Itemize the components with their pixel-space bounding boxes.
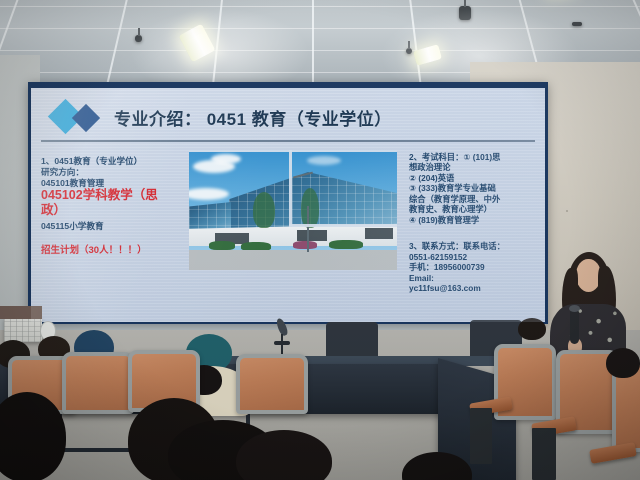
ceiling-speaker <box>135 35 142 42</box>
exam-line-5: 教育史、教育心理学） <box>409 204 545 214</box>
contact-phone: 0551-62159152 <box>409 252 545 262</box>
left-line-4: 045115小学教育 <box>41 221 206 232</box>
ceiling-light <box>178 24 215 63</box>
auditorium-seat[interactable] <box>236 354 308 414</box>
slide-right-column: 2、考试科目：① (101)思 想政治理论 ② (204)英语 ③ (333)教… <box>409 152 545 293</box>
exam-line-4: 综合（教育学原理、中外 <box>409 194 545 204</box>
exam-line-2: ② (204)英语 <box>409 173 545 183</box>
left-line-1: 1、0451教育（专业学位） <box>41 156 206 167</box>
diamond-logo-dark <box>76 108 96 128</box>
armrest-post <box>532 428 556 480</box>
led-screen[interactable]: 专业介绍： 0451 教育（专业学位） 1、0451教育（专业学位） 研究方向：… <box>31 88 545 322</box>
contact-heading: 3、联系方式：联系电话： <box>409 241 545 251</box>
lecture-hall-photo: 专业介绍： 0451 教育（专业学位） 1、0451教育（专业学位） 研究方向：… <box>0 0 640 480</box>
presentation-slide: 专业介绍： 0451 教育（专业学位） 1、0451教育（专业学位） 研究方向：… <box>31 88 545 322</box>
left-line-3: 045101教育管理 <box>41 178 206 189</box>
left-line-2: 研究方向： <box>41 167 206 178</box>
contact-email-label: Email: <box>409 273 545 283</box>
exam-line-6: ④ (819)教育管理学 <box>409 215 545 225</box>
exam-line-3: ③ (333)教育学专业基础 <box>409 183 545 193</box>
slide-title: 专业介绍： 0451 教育（专业学位） <box>114 105 392 130</box>
left-highlight-2: 政） <box>41 203 206 218</box>
ceiling-light <box>413 44 442 66</box>
campus-building-photo <box>189 150 397 270</box>
contact-email-value: yc11fsu@163.com <box>409 283 545 293</box>
exam-line-1: 想政治理论 <box>409 162 545 172</box>
enrollment-plan-note: 招生计划（30人！！！） <box>41 245 206 257</box>
ceiling-speaker <box>406 48 412 54</box>
auditorium-seat[interactable] <box>62 352 134 414</box>
contact-mobile: 手机：18956000739 <box>409 262 545 272</box>
armrest-post <box>470 408 492 464</box>
handheld-microphone[interactable] <box>570 310 579 344</box>
exam-heading: 2、考试科目：① (101)思 <box>409 152 545 162</box>
ceiling-speaker <box>459 6 471 20</box>
left-highlight-1: 045102学科教学（思 <box>41 188 206 203</box>
microphone-base <box>274 341 290 345</box>
ceiling-speaker <box>572 22 582 26</box>
slide-left-column: 1、0451教育（专业学位） 研究方向： 045101教育管理 045102学科… <box>41 156 206 257</box>
